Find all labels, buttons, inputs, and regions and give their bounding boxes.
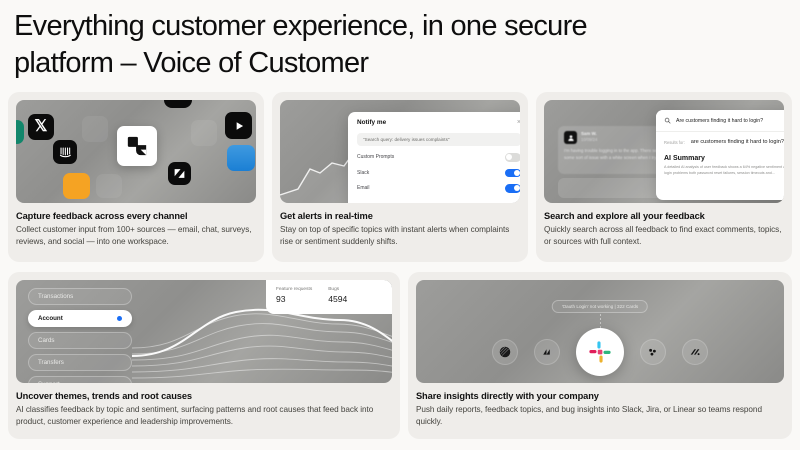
feature-row-top: 𝕏 xyxy=(8,92,792,262)
card-share-insights[interactable]: 'Oauth Login' not working | 322 Cards xyxy=(408,272,792,439)
dialog-title: Notify me xyxy=(357,119,386,126)
search-visual: Sam W. 10/09/24 I'm having trouble loggi… xyxy=(544,100,784,203)
themes-visual: Transactions Account Cards Transfers Sup… xyxy=(16,280,392,383)
toggle-row-custom-prompts[interactable]: Custom Prompts xyxy=(357,153,520,162)
card-body: AI classifies feedback by topic and sent… xyxy=(16,404,392,428)
card-title: Uncover themes, trends and root causes xyxy=(16,391,392,401)
topic-pill-list: Transactions Account Cards Transfers Sup… xyxy=(28,288,132,383)
stat-bugs: Bugs 4594 xyxy=(328,287,347,307)
card-title: Capture feedback across every channel xyxy=(16,211,256,221)
search-panel[interactable]: Are customers finding it hard to login? … xyxy=(656,110,784,200)
color-tile-orange xyxy=(63,173,90,199)
card-body: Stay on top of specific topics with inst… xyxy=(280,224,520,248)
stat-value: 4594 xyxy=(328,294,347,304)
toggle-label: Custom Prompts xyxy=(357,154,394,160)
slack-toggle[interactable] xyxy=(505,169,520,178)
stats-panel: Feature requests 93 Bugs 4594 xyxy=(266,280,392,314)
pill-label: Transfers xyxy=(38,359,64,366)
x-twitter-icon[interactable]: 𝕏 xyxy=(28,114,54,140)
sphere-icon[interactable] xyxy=(492,339,518,365)
feature-row-bottom: Transactions Account Cards Transfers Sup… xyxy=(8,272,792,439)
card-search-explore[interactable]: Sam W. 10/09/24 I'm having trouble loggi… xyxy=(536,92,792,262)
results-query: are customers finding it hard to login? xyxy=(691,139,784,147)
pill-label: Transactions xyxy=(38,293,73,300)
feedback-author: Sam W. xyxy=(581,131,597,137)
toggle-knob xyxy=(506,154,512,160)
page-title: Everything customer experience, in one s… xyxy=(8,0,628,82)
intercom-icon[interactable] xyxy=(53,140,77,164)
search-icon xyxy=(664,117,671,124)
play-video-icon[interactable] xyxy=(225,112,252,139)
app-logo-icon[interactable] xyxy=(117,126,157,166)
ghost-tile xyxy=(82,116,108,142)
feedback-meta: Sam W. 10/09/24 xyxy=(581,131,597,142)
pill-label: Cards xyxy=(38,337,55,344)
linear-icon[interactable] xyxy=(682,339,708,365)
search-query-chip[interactable]: "Search query: delivery issues complaint… xyxy=(357,133,520,146)
card-title: Share insights directly with your compan… xyxy=(416,391,784,401)
notify-me-dialog[interactable]: Notify me × "Search query: delivery issu… xyxy=(348,112,520,203)
landing-page: Everything customer experience, in one s… xyxy=(0,0,800,450)
toggle-knob xyxy=(514,170,520,176)
sidebar-item-cards[interactable]: Cards xyxy=(28,332,132,349)
close-icon[interactable]: × xyxy=(517,119,520,126)
dialog-header: Notify me × xyxy=(357,119,520,126)
issue-tooltip: 'Oauth Login' not working | 322 Cards xyxy=(552,300,649,313)
card-title: Get alerts in real-time xyxy=(280,211,520,221)
card-capture-feedback[interactable]: 𝕏 xyxy=(8,92,264,262)
custom-prompts-toggle[interactable] xyxy=(505,153,520,162)
card-body: Push daily reports, feedback topics, and… xyxy=(416,404,784,428)
ghost-tile xyxy=(191,120,217,146)
card-body: Collect customer input from 100+ sources… xyxy=(16,224,256,248)
stat-feature-requests: Feature requests 93 xyxy=(276,287,312,307)
results-label: Results for: xyxy=(664,139,685,147)
toggle-label: Slack xyxy=(357,170,369,176)
color-tile-dark xyxy=(164,100,192,108)
email-toggle[interactable] xyxy=(505,184,520,193)
slack-icon[interactable] xyxy=(576,328,624,376)
zendesk-icon[interactable] xyxy=(168,162,191,185)
search-query-text: Are customers finding it hard to login? xyxy=(676,118,763,124)
dots-icon[interactable] xyxy=(640,339,666,365)
ai-summary-heading: AI Summary xyxy=(656,152,784,162)
toggle-knob xyxy=(514,185,520,191)
toggle-row-slack[interactable]: Slack xyxy=(357,169,520,178)
card-body: Quickly search across all feedback to fi… xyxy=(544,224,784,248)
integration-icon-row xyxy=(416,328,784,376)
stat-value: 93 xyxy=(276,294,312,304)
pill-label: Account xyxy=(38,315,63,322)
sidebar-item-transfers[interactable]: Transfers xyxy=(28,354,132,371)
pill-label: Support xyxy=(38,381,60,383)
toggle-label: Email xyxy=(357,185,370,191)
toggle-row-email[interactable]: Email xyxy=(357,184,520,193)
sidebar-item-transactions[interactable]: Transactions xyxy=(28,288,132,305)
search-results-header: Results for: are customers finding it ha… xyxy=(656,132,784,152)
share-visual: 'Oauth Login' not working | 322 Cards xyxy=(416,280,784,383)
avatar xyxy=(564,131,577,144)
channels-visual: 𝕏 xyxy=(16,100,256,203)
color-tile-green xyxy=(16,120,24,144)
ai-summary-body: A detailed AI analysis of user feedback … xyxy=(656,162,784,177)
selected-dot-icon xyxy=(117,316,122,321)
card-title: Search and explore all your feedback xyxy=(544,211,784,221)
card-realtime-alerts[interactable]: Notify me × "Search query: delivery issu… xyxy=(272,92,528,262)
feedback-date: 10/09/24 xyxy=(581,137,597,142)
color-tile-blue xyxy=(227,145,255,171)
ghost-tile xyxy=(96,174,122,198)
x-glyph: 𝕏 xyxy=(35,119,48,135)
search-input[interactable]: Are customers finding it hard to login? xyxy=(656,110,784,132)
stat-label: Bugs xyxy=(328,287,347,292)
sidebar-item-account[interactable]: Account xyxy=(28,310,132,327)
sidebar-item-support[interactable]: Support xyxy=(28,376,132,383)
alerts-visual: Notify me × "Search query: delivery issu… xyxy=(280,100,520,203)
card-uncover-themes[interactable]: Transactions Account Cards Transfers Sup… xyxy=(8,272,400,439)
arrows-icon[interactable] xyxy=(534,339,560,365)
stat-label: Feature requests xyxy=(276,287,312,292)
